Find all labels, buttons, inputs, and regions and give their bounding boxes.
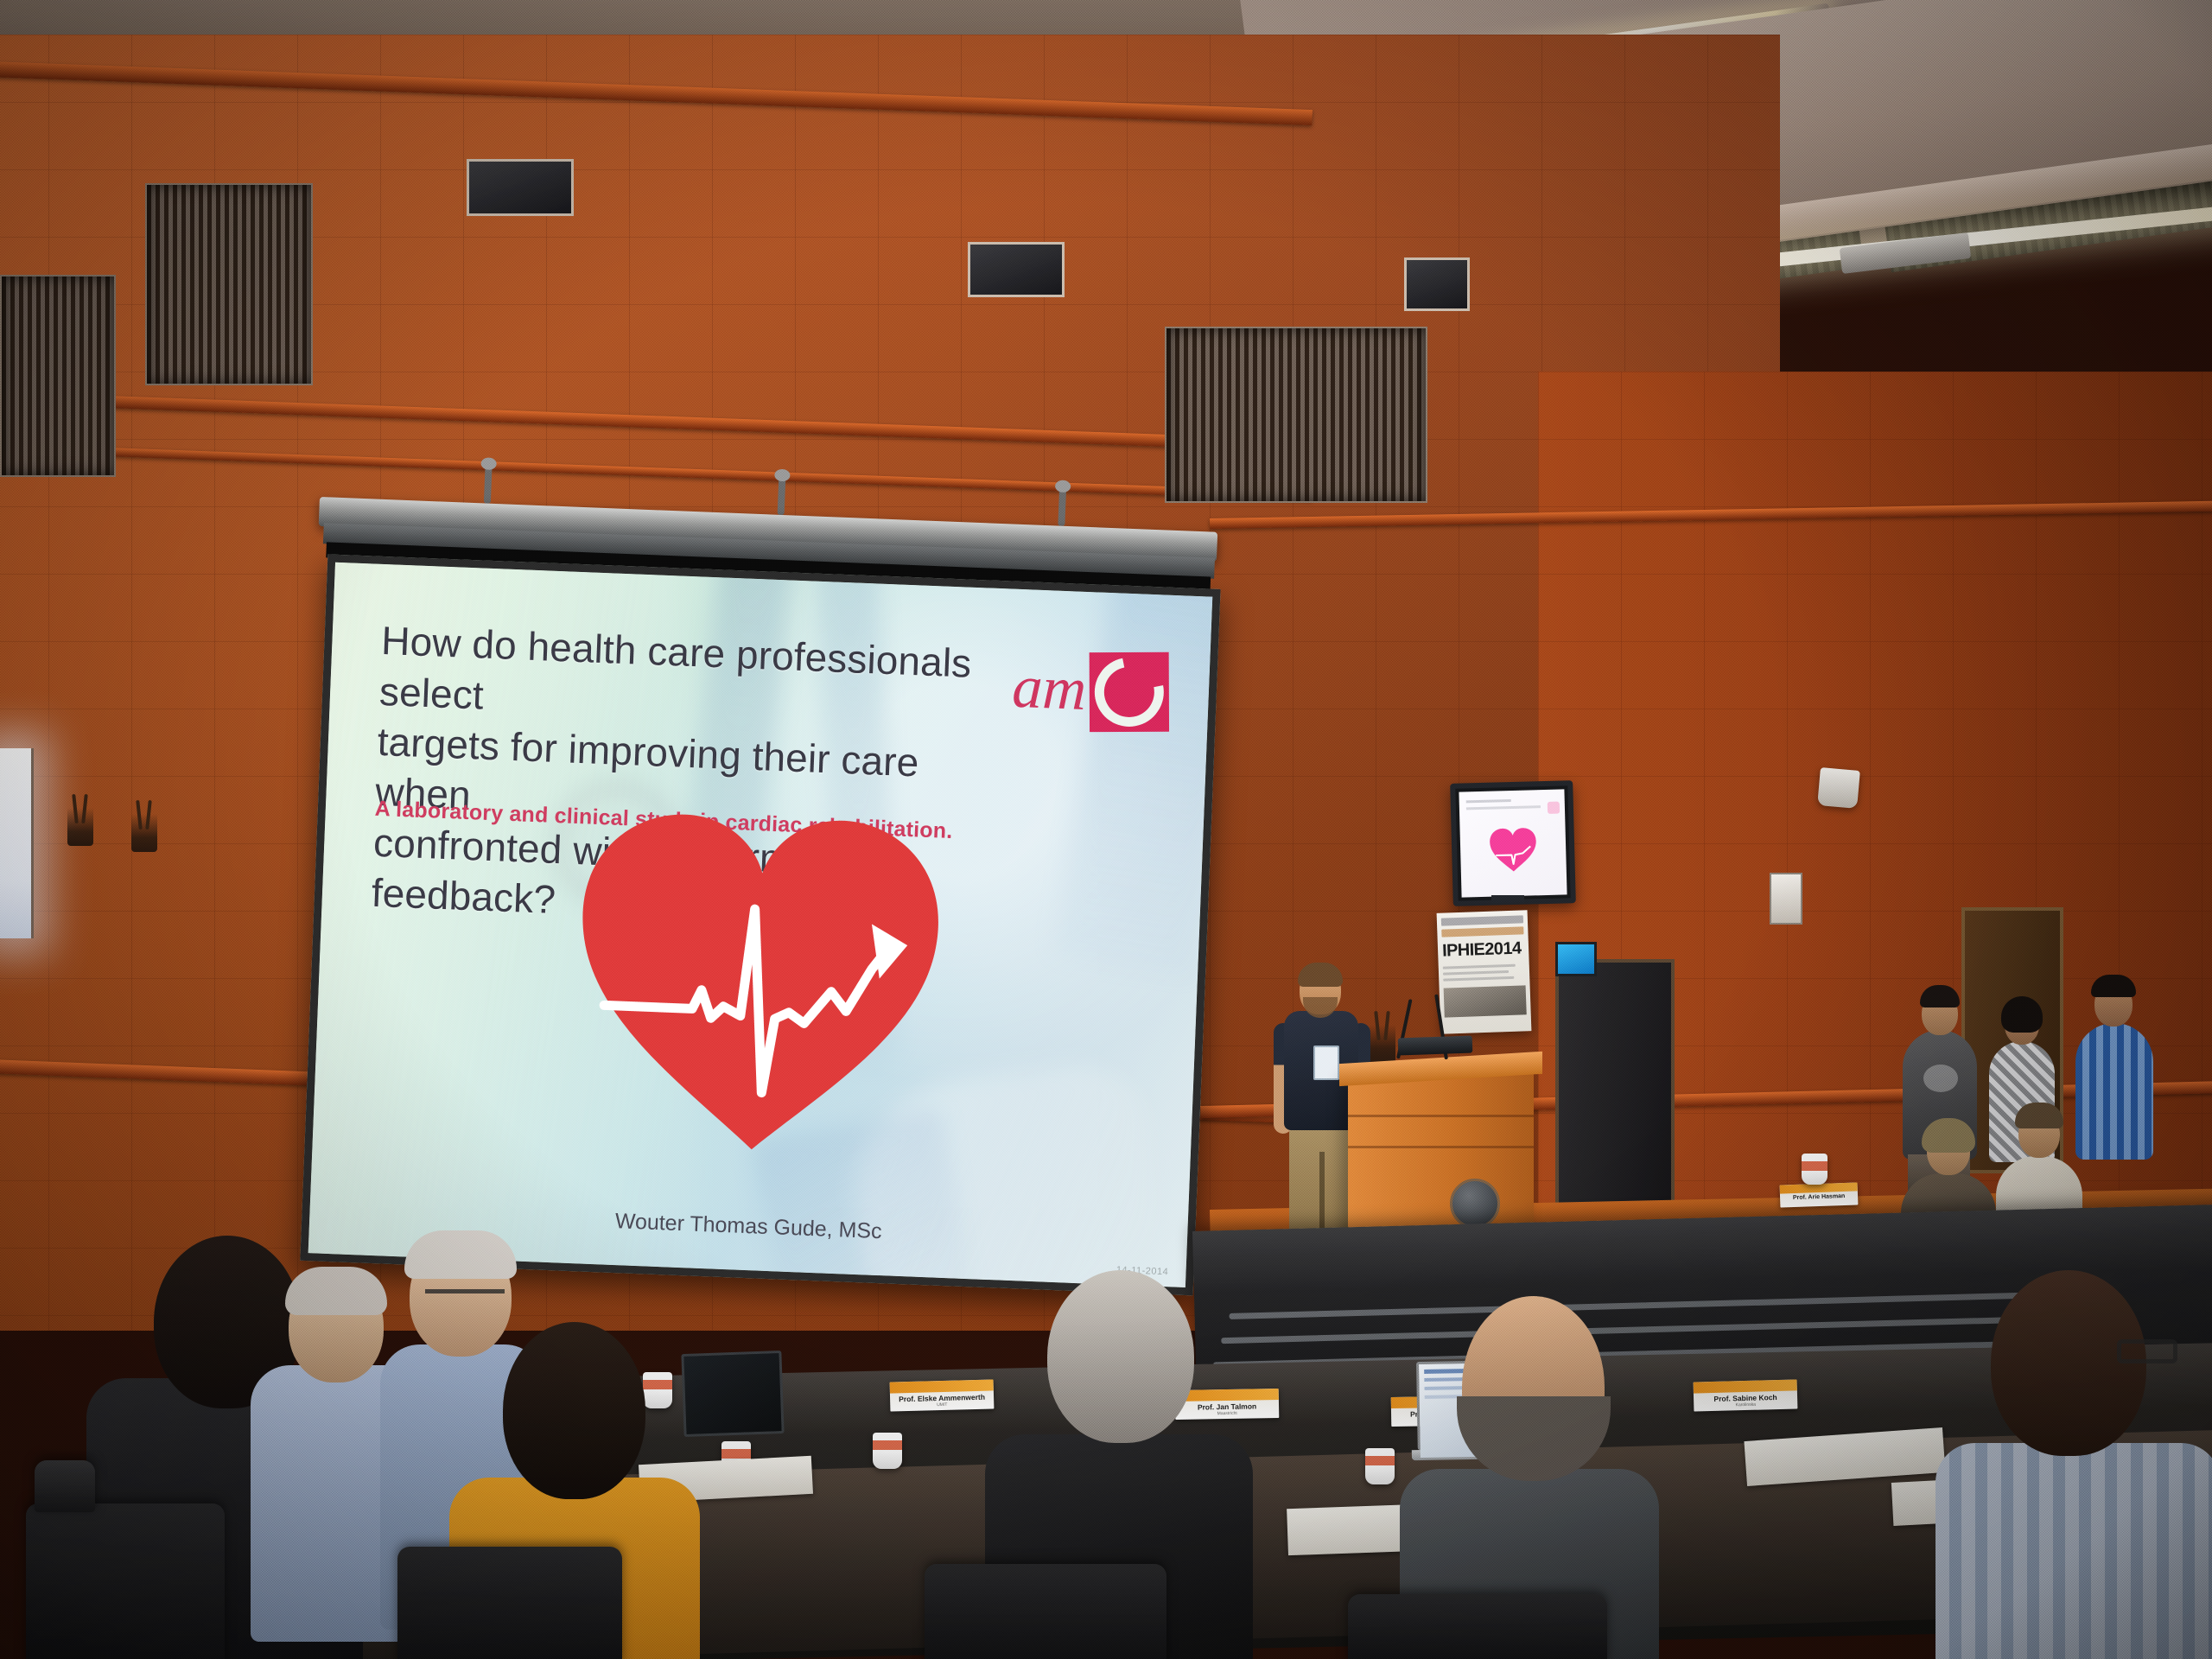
side-display [1555, 942, 1597, 976]
name-placard: Prof. Arie Hasman [1780, 1182, 1859, 1207]
name-placard: Prof. Sabine Koch Karolinska [1694, 1379, 1798, 1411]
photo-blue-right [1052, 563, 1212, 976]
poster-photo [1444, 985, 1527, 1017]
chair-back-1 [26, 1503, 225, 1659]
heart-icon [566, 800, 950, 1160]
air-vent-icon-upper-1 [467, 159, 574, 216]
coffee-cup-icon-5 [1802, 1154, 1827, 1185]
eyeglasses-icon [425, 1289, 505, 1307]
seated-right-2-hair [1922, 1118, 1975, 1153]
placard-accent [1694, 1379, 1797, 1393]
air-vent-icon-upper-3 [1404, 257, 1470, 311]
poster-logo-band-1 [1441, 915, 1523, 925]
air-vent-icon-left-upper [145, 183, 313, 385]
podium-seam-1 [1348, 1115, 1534, 1117]
person-1-hair [1920, 985, 1960, 1007]
amc-logo: am [1011, 648, 1171, 734]
chair-back-3 [925, 1564, 1166, 1659]
air-vent-icon-far-left [0, 275, 116, 477]
presenter-hair [1298, 963, 1343, 987]
amc-wordmark: am [1012, 664, 1088, 715]
conference-poster: IPHIE2014 [1437, 910, 1532, 1034]
orange-hoodie-head [503, 1322, 645, 1499]
person-3-torso [2075, 1023, 2153, 1160]
name-placard: Prof. Elske Ammenwerth UMIT [890, 1379, 995, 1411]
podium-seam-2 [1348, 1146, 1534, 1148]
poster-title: IPHIE2014 [1442, 939, 1525, 959]
projection-screen: How do health care professionals select … [289, 497, 1217, 1292]
podium-laptop-icon [1398, 1036, 1473, 1056]
poster-text-line-3 [1443, 976, 1514, 982]
placard-accent [890, 1379, 994, 1393]
presenter-badge [1313, 1046, 1339, 1080]
coffee-cup-icon-4 [1365, 1448, 1395, 1484]
seated-right-1-hair [2015, 1103, 2063, 1128]
center-head [1047, 1270, 1194, 1443]
poster-text-line-1 [1443, 964, 1516, 969]
amc-c-arc-icon [1082, 644, 1178, 740]
cup-band [1365, 1456, 1395, 1465]
chair-back-4 [1348, 1594, 1607, 1659]
left-window-light [0, 748, 34, 938]
chair-back-2 [397, 1547, 622, 1659]
person-2-hair [2001, 996, 2043, 1033]
wall-speaker-icon [1817, 767, 1860, 809]
podium-emblem [1450, 1179, 1500, 1229]
wall-panel-device [1770, 873, 1802, 925]
air-vent-icon-upper-2 [968, 242, 1065, 297]
audience-person-plaid-right [1935, 1270, 2212, 1659]
cup-band [873, 1440, 902, 1450]
wall-monitor-heart-icon [1489, 827, 1538, 873]
wall-monitor-screen [1459, 789, 1567, 897]
chair-arm [35, 1460, 95, 1512]
eyeglasses-icon-right [2117, 1339, 2177, 1363]
cup-band [721, 1449, 751, 1459]
air-vent-icon-center [1165, 327, 1427, 503]
presentation-slide: How do health care professionals select … [308, 563, 1213, 1287]
placard-name-text: Prof. Arie Hasman [1780, 1192, 1858, 1201]
coffee-cup-icon-3 [873, 1433, 902, 1469]
poster-logo-band-2 [1441, 926, 1523, 937]
wall-monitor-stand [1491, 895, 1524, 904]
wall-hook-1 [67, 808, 93, 846]
screen-frame: How do health care professionals select … [300, 554, 1220, 1295]
cup-band [1802, 1161, 1827, 1171]
standing-person-3 [2074, 976, 2156, 1184]
screen-hanger-2 [778, 477, 786, 515]
wall-hook-2 [131, 814, 157, 852]
person-3-hair [2091, 975, 2136, 997]
amc-mark-square [1090, 652, 1169, 732]
poster-text-line-2 [1443, 970, 1509, 976]
auditorium-photo: How do health care professionals select … [0, 0, 2212, 1659]
blue-shirt-hair [285, 1267, 387, 1315]
screen-hanger-3 [1058, 488, 1066, 526]
glasses-hair [404, 1230, 517, 1279]
person-1-shirt-graphic [1923, 1065, 1958, 1092]
plaid-torso [1935, 1443, 2212, 1659]
wall-monitor [1450, 780, 1576, 906]
